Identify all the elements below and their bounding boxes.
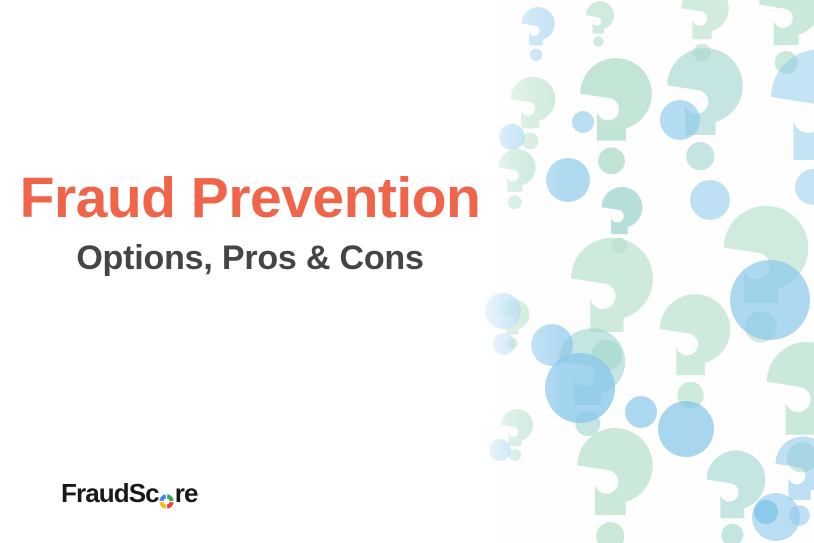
accent-circle [493, 333, 515, 355]
question-mark-shape [660, 294, 730, 408]
accent-circle [545, 353, 615, 423]
question-mark-shape [498, 149, 535, 209]
question-mark-shape [499, 299, 530, 349]
question-mark-shape [577, 428, 653, 543]
accent-circle [625, 396, 657, 428]
question-mark-shape [707, 450, 766, 543]
accent-circle [485, 293, 521, 329]
accent-circle [660, 100, 700, 140]
accent-circle [499, 124, 525, 150]
question-mark-shape [681, 0, 728, 61]
logo-text-after: re [175, 480, 198, 506]
question-mark-shape [667, 48, 743, 170]
question-mark-shape [775, 437, 814, 526]
accent-circle [489, 439, 511, 461]
question-mark-shape [559, 328, 626, 436]
accent-circle [690, 180, 730, 220]
logo-text-before: FraudSc [61, 480, 159, 506]
accent-circle [754, 500, 778, 524]
page-subtitle: Options, Pros & Cons [0, 241, 500, 275]
question-mark-shape [511, 77, 556, 150]
accent-circle [730, 260, 810, 340]
question-mark-shape [767, 342, 814, 473]
question-mark-shape [501, 409, 533, 461]
question-mark-shape [759, 0, 814, 74]
brand-logo[interactable]: FraudSc re [61, 480, 198, 506]
question-mark-shape [602, 187, 643, 253]
question-mark-shape [771, 49, 814, 205]
logo-ring-icon [159, 487, 174, 502]
title-block: Fraud Prevention Options, Pros & Cons [0, 170, 500, 275]
page-title: Fraud Prevention [0, 170, 500, 227]
accent-circle [531, 324, 573, 366]
question-mark-shape [724, 206, 808, 343]
question-mark-shape [521, 7, 554, 61]
question-mark-shape [571, 238, 653, 371]
question-mark-shape [580, 58, 652, 174]
slide-canvas: Fraud Prevention Options, Pros & Cons Fr… [0, 0, 814, 543]
accent-circle [658, 401, 714, 457]
accent-circle [546, 158, 590, 202]
accent-circle [572, 111, 594, 133]
accent-circle [752, 493, 800, 541]
question-mark-shape [586, 1, 614, 47]
